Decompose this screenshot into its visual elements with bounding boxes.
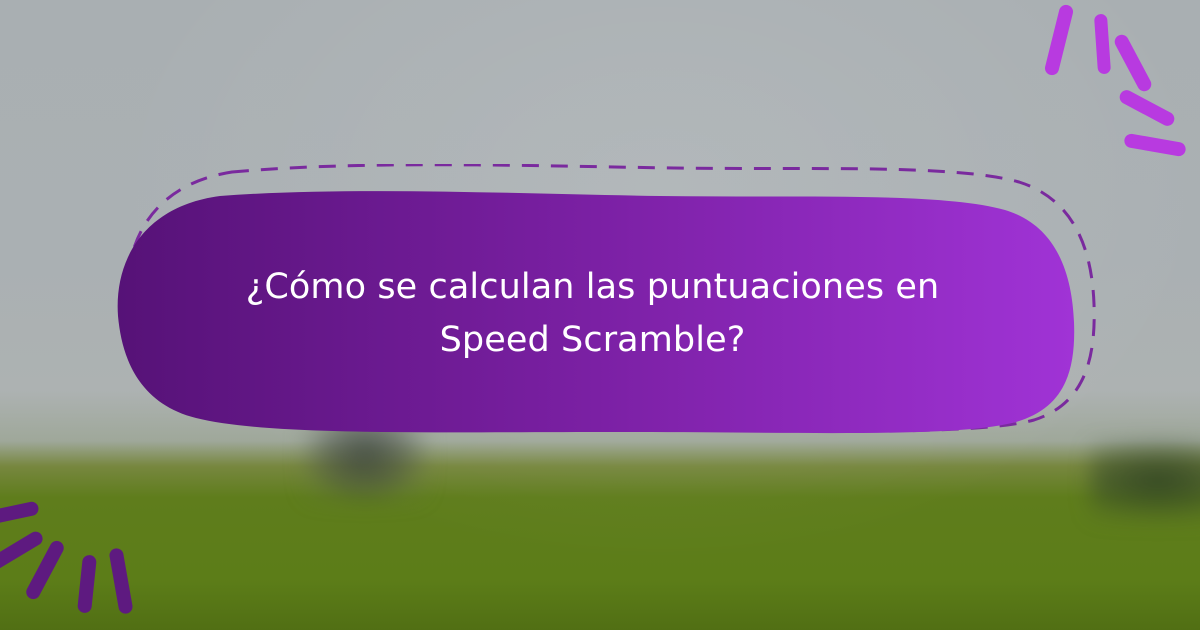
headline-card: ¿Cómo se calculan las puntuaciones en Sp… xyxy=(100,168,1100,450)
social-card-canvas: ¿Cómo se calculan las puntuaciones en Sp… xyxy=(0,0,1200,630)
sparkle-dash xyxy=(108,547,133,614)
card-text-area: ¿Cómo se calculan las puntuaciones en Sp… xyxy=(100,190,1085,438)
page-title: ¿Cómo se calculan las puntuaciones en Sp… xyxy=(193,261,993,367)
sparkle-dash xyxy=(0,500,40,527)
sparkle-dash xyxy=(77,554,97,613)
